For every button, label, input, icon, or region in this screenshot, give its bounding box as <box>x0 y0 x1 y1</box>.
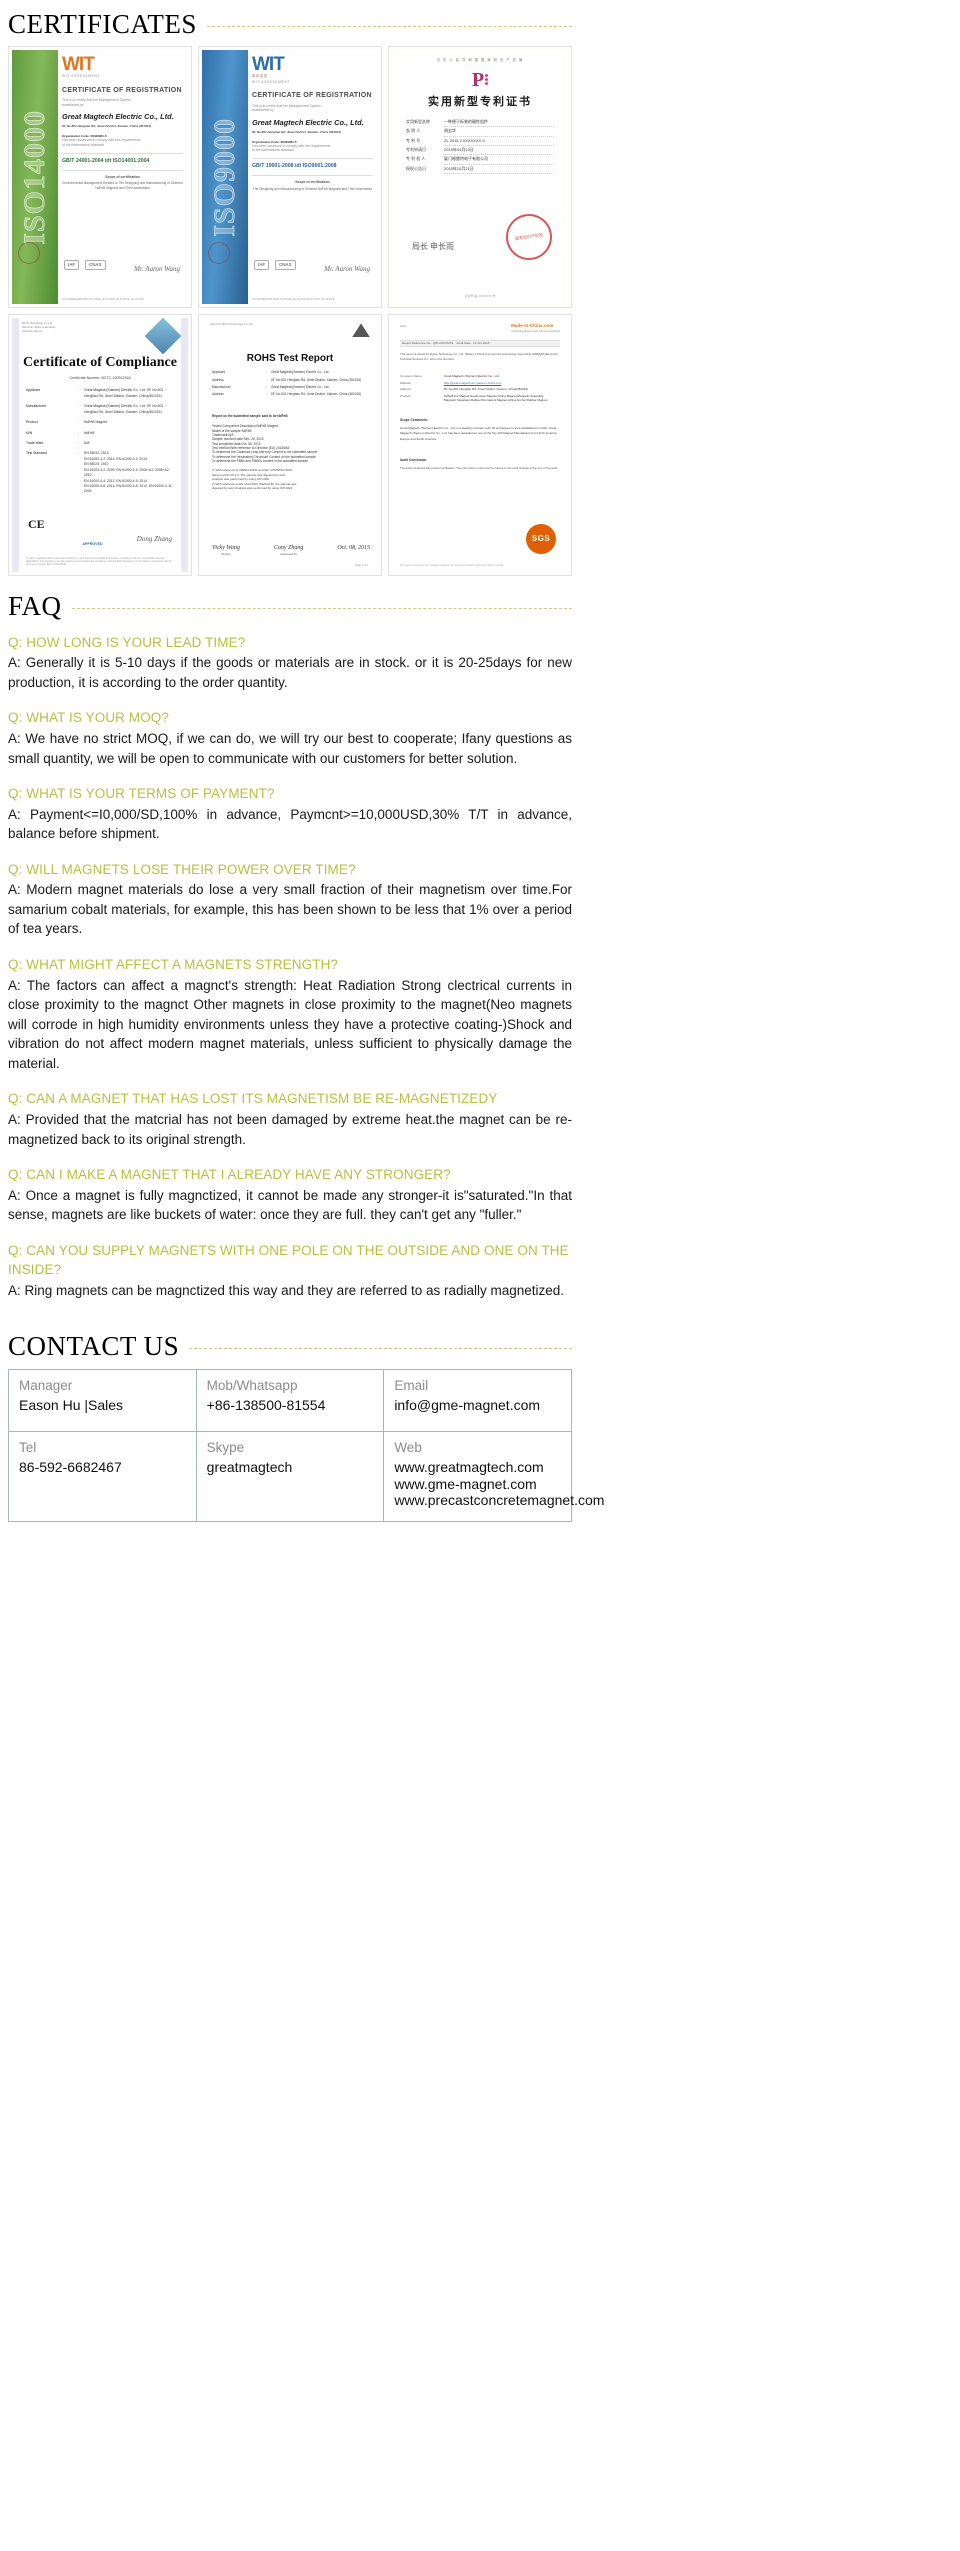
rohs-lab-logo-icon <box>352 323 370 337</box>
wit-logo-subtitle: WIT ASSESSMENT <box>62 74 183 78</box>
faq-answer: A: Provided that the matcrial has not be… <box>8 1110 572 1149</box>
sgs-field-label: Company Name <box>400 374 444 378</box>
patent-field-label: 授权公告日 <box>406 165 440 174</box>
rohs-tester-signature: Vicky Wang <box>212 544 240 552</box>
faq-question: Q: WHAT IS YOUR TERMS OF PAYMENT? <box>8 784 572 804</box>
wit-logo-subtitle: WIT ASSESSMENT <box>252 80 373 84</box>
iso14000-spine: ISO14000 <box>12 50 58 304</box>
rohs-field-label: Address <box>212 378 266 382</box>
web-url-1[interactable]: www.greatmagtech.com <box>394 1459 561 1476</box>
iso9000-signature: Mr. Aaron Wang <box>324 265 370 274</box>
patent-field-label: 专 利 权 人 <box>406 155 440 164</box>
faq-item: Q: WILL MAGNETS LOSE THEIR POWER OVER TI… <box>8 860 572 939</box>
rohs-applicant-fields: Applicant:Great Magtech(Xiamen) Electric… <box>212 370 370 399</box>
rohs-sample-fields: Tested Component Description:NdFeB Magne… <box>212 424 370 463</box>
contact-value-web[interactable]: www.greatmagtech.com www.gme-magnet.com … <box>384 1457 572 1521</box>
sgs-logo-icon: SGS <box>400 324 406 328</box>
patent-field-label: 实用新型名称 <box>406 118 440 127</box>
contact-label-web: Web <box>384 1431 572 1457</box>
iso9000-comply-2: of the international standard <box>252 148 373 153</box>
patent-title: 实用新型专利证书 <box>392 95 568 110</box>
contact-title: CONTACT US <box>8 1332 179 1360</box>
faq-answer: A: Payment<=I0,000/SD,100% in advance, P… <box>8 805 572 844</box>
iso9000-spine: ISO9000 <box>202 50 248 304</box>
contact-value-mobile: +86-138500-81554 <box>196 1395 384 1431</box>
compliance-field-label: Applicant <box>26 388 78 399</box>
faq-item: Q: CAN YOU SUPPLY MAGNETS WITH ONE POLE … <box>8 1241 572 1301</box>
cnas-mark-icon: CNAS <box>85 260 105 270</box>
compliance-field-value: N/A <box>84 441 176 446</box>
sgs-footer: This report is issued by the Company sub… <box>400 564 560 567</box>
contact-value-tel: 86-592-6682467 <box>9 1457 197 1521</box>
iaf-mark-icon: IAF <box>64 260 79 270</box>
ce-mark-icon: CE <box>28 516 45 532</box>
heading-dashed-rule <box>207 26 572 27</box>
faq-answer: A: Once a magnet is fully magnctized, it… <box>8 1186 572 1225</box>
cnas-mark-icon: CNAS <box>275 260 295 270</box>
faq-question: Q: WILL MAGNETS LOSE THEIR POWER OVER TI… <box>8 860 572 880</box>
iso14000-certno: NO:1510EMS1966 DATE OF ISSUE: Apr.15,201… <box>62 298 183 301</box>
iso14000-heading: CERTIFICATE OF REGISTRATION <box>62 86 183 95</box>
rohs-sample-note: Report on the submitted sample said to b… <box>212 414 370 418</box>
iso9000-scope-text: The Designing and Manufacturing of Sinte… <box>252 187 373 191</box>
rohs-approver-label: Approved by <box>274 552 304 556</box>
faq-title: FAQ <box>8 592 62 620</box>
faq-item: Q: CAN A MAGNET THAT HAS LOST ITS MAGNET… <box>8 1089 572 1149</box>
table-row: 86-592-6682467 greatmagtech www.greatmag… <box>9 1457 572 1521</box>
patent-top-line: 中 华 人 民 共 和 国 国 家 知 识 产 权 局 <box>392 50 568 63</box>
iso14000-comply-2: of the international standard <box>62 143 183 148</box>
faq-question: Q: WHAT MIGHT AFFECT A MAGNETS STRENGTH? <box>8 955 572 975</box>
contact-value-manager: Eason Hu |Sales <box>9 1395 197 1431</box>
compliance-field-label: Manufacturer <box>26 404 78 415</box>
sgs-field-value: Great Magtech (Xiamen) Electric Co., Ltd… <box>444 374 560 378</box>
contact-label-mobile: Mob/Whatsapp <box>196 1369 384 1395</box>
sgs-field-label: Website <box>400 381 444 385</box>
compliance-field-label: Product <box>26 420 78 425</box>
patent-field-value: ZL 2015 2 0XXXXXX.X <box>444 137 554 146</box>
compliance-fields: Applicant:Great Magtech(Xiamen) Electric… <box>26 388 176 500</box>
contact-label-manager: Manager <box>9 1369 197 1395</box>
certificate-image-iso9000[interactable]: ISO9000 WIT 萬泰認證 WIT ASSESSMENT CERTIFIC… <box>198 46 382 308</box>
wit-logo-icon: WIT <box>62 56 183 73</box>
iso9000-scope-label: Scope of certification <box>252 180 373 185</box>
certificate-image-rohs-report[interactable]: Shenzhen BCTC Technology Co.,Ltd. ROHS T… <box>198 314 382 576</box>
faq-question: Q: WHAT IS YOUR MOQ? <box>8 708 572 728</box>
sgs-conclusion-heading: Audit Conclusion <box>400 458 426 462</box>
patent-field-value: 2015年04月15日 <box>444 146 554 155</box>
compliance-signature: Dong Zhang <box>137 535 172 544</box>
compliance-field-label: Trade Mark <box>26 441 78 446</box>
faq-answer: A: Ring magnets can be magnctized this w… <box>8 1281 572 1301</box>
compliance-field-value: Great Magtech(Xiamen) Electric Co., Ltd.… <box>84 388 176 399</box>
iso9000-standard: GB/T 19001-2008 idt ISO9001:2008 <box>252 163 373 170</box>
contact-label-tel: Tel <box>9 1431 197 1457</box>
certificate-image-iso14000[interactable]: ISO14000 WIT WIT ASSESSMENT CERTIFICATE … <box>8 46 192 308</box>
compliance-field-label: M/N <box>26 431 78 436</box>
faq-answer: A: Generally it is 5-10 days if the good… <box>8 653 572 692</box>
iso9000-company: Great Magtech Electric Co., Ltd. <box>252 118 373 128</box>
rohs-title: ROHS Test Report <box>202 352 378 366</box>
contact-heading: CONTACT US <box>8 1322 572 1368</box>
sgs-scope-heading: Scope Comments: <box>400 418 428 422</box>
rohs-field-value: NdFeB <box>242 429 252 433</box>
sgs-field-value: NdFeB Arc Magnet,Neodymium Magnet,Liftin… <box>444 394 560 402</box>
iso9000-certno: NO:1510QMS1966 DATE OF ISSUE: Apr.15,201… <box>252 298 373 301</box>
compliance-field-label: Test Standard <box>26 451 78 495</box>
rohs-approver-signature: Cony Zhang <box>274 544 304 552</box>
iso14000-intro-2: established by <box>62 103 183 108</box>
compliance-title: Certificate of Compliance <box>12 354 188 373</box>
certificates-title: CERTIFICATES <box>8 10 197 38</box>
wit-logo-chinese: 萬泰認證 <box>252 74 373 78</box>
patent-field-value: 胡志华 <box>444 127 554 136</box>
patent-field-value: 2015年10月21日 <box>444 165 554 174</box>
compliance-header: BCTC Technology Co.,Ltd. Shenzhen Testin… <box>22 322 56 333</box>
patent-signature: 局长 申长雨 <box>412 242 454 253</box>
sgs-field-label: Product <box>400 394 444 402</box>
sgs-report-reference: Report Reference No.: QIP-ASV07251 Audit… <box>402 341 489 345</box>
compliance-field-value: EN 55032: 2015 EN 61000-3-2: 2014, EN 61… <box>84 451 176 495</box>
rohs-field-label: Applicant <box>212 370 266 374</box>
made-in-china-logo-icon: Made-in-China.com Connecting Buyers with… <box>511 323 560 333</box>
patent-field-value: 一种便于拆装的磁性组件 <box>444 118 554 127</box>
certificates-grid: ISO14000 WIT WIT ASSESSMENT CERTIFICATE … <box>8 46 572 582</box>
patent-red-stamp-icon: 国家知识产权局 <box>503 211 555 263</box>
rohs-field-value: 5F, No.601 Hengtian Rd, Jimei District, … <box>271 378 370 382</box>
compliance-field-value: Great Magtech(Xiamen) Electric Co., Ltd.… <box>84 404 176 415</box>
iso14000-signature: Mr. Aaron Wang <box>134 265 180 274</box>
sgs-field-label: Address <box>400 387 444 391</box>
web-url-2[interactable]: www.gme-magnet.com <box>394 1476 561 1493</box>
table-row: Tel Skype Web <box>9 1431 572 1457</box>
rohs-field-value: 5F, No.601 Hengtian Rd, Jimei District, … <box>271 392 370 396</box>
heading-dashed-rule <box>189 1348 572 1349</box>
web-url-3[interactable]: www.precastconcretemagnet.com <box>394 1492 561 1509</box>
iso14000-company: Great Magtech Electric Co., Ltd. <box>62 112 183 122</box>
patent-office-logo-icon: P <box>465 69 495 91</box>
faq-item: Q: WHAT MIGHT AFFECT A MAGNETS STRENGTH?… <box>8 955 572 1073</box>
iso14000-scope-label: Scope of certification <box>62 175 183 180</box>
faq-answer: A: We have no strict MOQ, if we can do, … <box>8 729 572 768</box>
contact-value-skype: greatmagtech <box>196 1457 384 1521</box>
certificate-image-china-patent[interactable]: 中 华 人 民 共 和 国 国 家 知 识 产 权 局 P 实用新型专利证书 实… <box>388 46 572 308</box>
wit-logo-icon: WIT <box>252 56 373 73</box>
iso9000-intro-2: established by <box>252 108 373 113</box>
rohs-page-number: Page 1 of 3 <box>355 564 368 568</box>
patent-field-value: 厦门格雷特电子有限公司 <box>444 155 554 164</box>
patent-field-label: 专 利 号 <box>406 137 440 146</box>
contact-section: Manager Mob/Whatsapp Email Eason Hu |Sal… <box>8 1369 572 1536</box>
iso14000-address: 5F, No.601 Hengtian Rd, Jimei District, … <box>62 124 183 128</box>
rohs-signatures: Vicky Wang Test by Cony Zhang Approved b… <box>212 544 370 556</box>
faq-item: Q: CAN I MAKE A MAGNET THAT I ALREADY HA… <box>8 1165 572 1225</box>
rohs-field-label: Address <box>212 392 266 396</box>
contact-table: Manager Mob/Whatsapp Email Eason Hu |Sal… <box>8 1369 572 1522</box>
iaf-mark-icon: IAF <box>254 260 269 270</box>
compliance-logo-icon <box>145 318 182 354</box>
heading-dashed-rule <box>72 608 572 609</box>
sgs-intro-paragraph: This report is issued for Figure Technol… <box>400 352 560 360</box>
compliance-field-value: NdFeB Magnet <box>84 420 176 425</box>
iso9000-heading: CERTIFICATE OF REGISTRATION <box>252 91 373 100</box>
faq-question: Q: CAN A MAGNET THAT HAS LOST ITS MAGNET… <box>8 1089 572 1109</box>
faq-item: Q: WHAT IS YOUR MOQ? A: We have no stric… <box>8 708 572 768</box>
table-row: Manager Mob/Whatsapp Email <box>9 1369 572 1395</box>
sgs-conclusion-text: The audit conducted has passed verificat… <box>400 466 560 470</box>
rohs-field-value: Great Magtech(Xiamen) Electric Co., Ltd. <box>271 385 370 389</box>
product-detail-page: CERTIFICATES ISO14000 WIT WIT ASSESSMENT… <box>0 0 580 1536</box>
rohs-tester-label: Test by <box>212 552 240 556</box>
contact-label-email: Email <box>384 1369 572 1395</box>
faq-question: Q: CAN YOU SUPPLY MAGNETS WITH ONE POLE … <box>8 1241 572 1280</box>
faq-list: Q: HOW LONG IS YOUR LEAD TIME? A: Genera… <box>8 629 572 1323</box>
iso9000-address: 5F, No.601 Hengtian Rd, Jimei District, … <box>252 130 373 134</box>
faq-answer: A: The factors can affect a magnct's str… <box>8 976 572 1074</box>
rohs-test-result: 1) With reference to GB/EN 62321 and IEC… <box>212 468 370 491</box>
rohs-field-label: Manufacturer <box>212 385 266 389</box>
certificate-image-sgs-report[interactable]: SGS Made-in-China.com Connecting Buyers … <box>388 314 572 576</box>
faq-item: Q: WHAT IS YOUR TERMS OF PAYMENT? A: Pay… <box>8 784 572 844</box>
compliance-certificate-number: Certificate Number: BCTC-150912318 <box>12 376 188 381</box>
rohs-field-value: NdFeB Magnet <box>256 424 277 428</box>
rohs-header: Shenzhen BCTC Technology Co.,Ltd. <box>210 323 253 327</box>
sgs-scope-text: Great Magtech (Xiamen) Electric Co., Ltd… <box>400 426 560 441</box>
certificates-heading: CERTIFICATES <box>8 0 572 46</box>
contact-value-email[interactable]: info@gme-magnet.com <box>384 1395 572 1431</box>
iso14000-scope-text: Environmental Management Related to The … <box>62 181 183 190</box>
faq-answer: A: Modern magnet materials do lose a ver… <box>8 880 572 939</box>
compliance-footer: The EUT described above have been tested… <box>26 557 176 566</box>
table-row: Eason Hu |Sales +86-138500-81554 info@gm… <box>9 1395 572 1431</box>
faq-question: Q: HOW LONG IS YOUR LEAD TIME? <box>8 633 572 653</box>
faq-question: Q: CAN I MAKE A MAGNET THAT I ALREADY HA… <box>8 1165 572 1185</box>
patent-footer: 证书号 第 4XXXXXX 号 <box>402 294 558 298</box>
sgs-company-fields: Company NameGreat Magtech (Xiamen) Elect… <box>400 374 560 404</box>
sgs-field-value: 5F, No.601 Hengtian Rd, Jimei District, … <box>444 387 560 391</box>
sgs-website-link[interactable]: http://great-magtech.en.made-in-china.co… <box>444 381 560 385</box>
iso14000-standard: GB/T 24001-2004 idt ISO14001:2004 <box>62 158 183 165</box>
rohs-field-value: Great Magtech(Xiamen) Electric Co., Ltd. <box>271 370 370 374</box>
patent-field-label: 专利申请日 <box>406 146 440 155</box>
compliance-approved-stamp: APPROVED <box>82 542 102 547</box>
sgs-round-seal-icon: SGS <box>526 524 556 554</box>
certificate-image-compliance[interactable]: BCTC Technology Co.,Ltd. Shenzhen Testin… <box>8 314 192 576</box>
faq-item: Q: HOW LONG IS YOUR LEAD TIME? A: Genera… <box>8 633 572 693</box>
patent-field-label: 发 明 人 <box>406 127 440 136</box>
compliance-field-value: NdFeB <box>84 431 176 436</box>
contact-label-skype: Skype <box>196 1431 384 1457</box>
rohs-date: Oct. 08, 2015 <box>337 544 370 552</box>
faq-heading: FAQ <box>8 582 572 628</box>
patent-fields: 实用新型名称一种便于拆装的磁性组件 发 明 人胡志华 专 利 号ZL 2015 … <box>406 118 554 174</box>
